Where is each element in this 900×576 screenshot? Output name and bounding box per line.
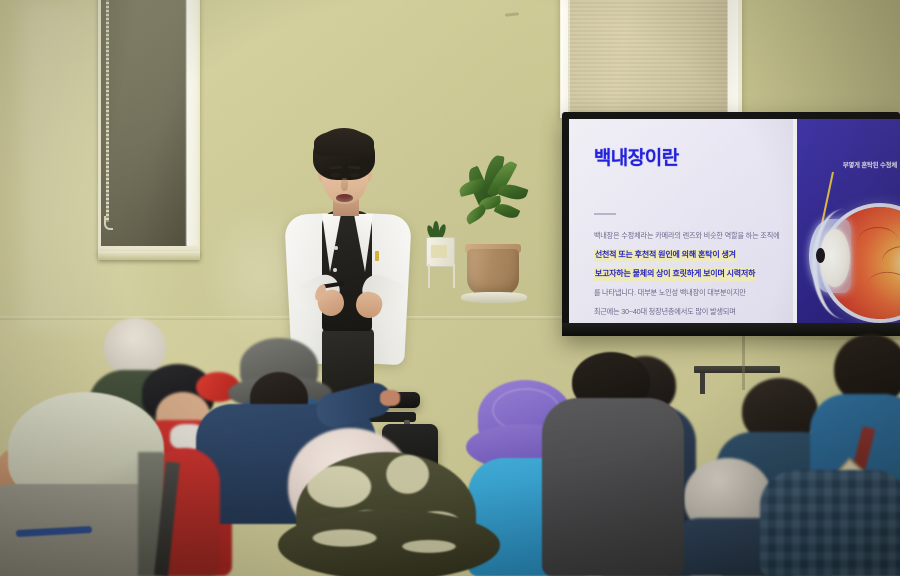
slide-title: 백내장이란 <box>594 143 679 170</box>
lecture-room-photo: 부옇게 혼탁된 수정체 백내장이란 백내장은 수정체라는 카메라의 렌즈와 비슷… <box>0 0 900 576</box>
hand <box>380 390 400 406</box>
eye <box>349 173 360 177</box>
potted-plant-large <box>455 163 533 303</box>
slide-line-highlighted: 보고자하는 물체의 상이 흐릿하게 보이며 시력저하 <box>594 268 756 281</box>
slide-title-rule <box>594 213 616 215</box>
plant-leaf <box>498 181 529 203</box>
wall-shelf-bracket <box>700 372 705 394</box>
presentation-slide: 부옇게 혼탁된 수정체 백내장이란 백내장은 수정체라는 카메라의 렌즈와 비슷… <box>569 119 900 323</box>
window-glass-edge <box>186 0 198 246</box>
blind-chain-loop-icon <box>104 216 113 230</box>
wall-panel-seam <box>742 330 745 390</box>
window-glass-edge-left <box>561 0 570 114</box>
plant-leaf <box>494 200 521 221</box>
planter-stand <box>428 264 455 288</box>
slide-line: 최근에는 30~40대 청장년층에서도 많이 발생되며 <box>594 307 736 316</box>
window-sill <box>98 251 200 260</box>
diagram-label: 부옇게 혼탁된 수정체 <box>843 160 897 169</box>
mouth <box>336 194 353 202</box>
blind-shading <box>101 0 187 246</box>
plant-saucer <box>461 292 527 303</box>
eye <box>330 173 341 177</box>
eye-diagram-pupil <box>816 248 825 263</box>
audience-torso <box>542 398 684 576</box>
window-blind-left <box>98 0 200 254</box>
coat-button <box>334 246 338 250</box>
slide-body-text: 백내장은 수정체라는 카메라의 렌즈와 비슷한 역할을 하는 조직에 선천적 또… <box>594 225 793 323</box>
window-blind-right <box>560 0 742 118</box>
hair-white <box>104 318 166 376</box>
plant-leaf <box>464 204 489 225</box>
nose <box>341 178 348 191</box>
wall-mounted-tv[interactable]: 부옇게 혼탁된 수정체 백내장이란 백내장은 수정체라는 카메라의 렌즈와 비슷… <box>562 112 900 336</box>
presenter-hair-fringe <box>314 130 374 156</box>
pocket-pen-icon <box>375 251 379 261</box>
tv-lower-bezel <box>562 323 900 336</box>
blind-chain-icon <box>106 0 109 222</box>
slide-diagram-panel: 부옇게 혼탁된 수정체 <box>797 119 900 323</box>
camo-bucket-hat-brim <box>278 510 500 576</box>
coat-button <box>333 268 337 272</box>
plaid-shirt-torso <box>760 470 900 576</box>
planter-label <box>431 245 447 258</box>
slide-line: 를 나타냅니다. 대부분 노인성 백내장이 대부분이지만 <box>594 288 746 297</box>
window-glass-edge-right <box>727 0 738 114</box>
wall-shelf <box>694 366 780 373</box>
roller-blind-fabric-right <box>568 0 728 114</box>
slide-line-highlighted: 선천적 또는 후천적 원인에 의해 혼탁이 생겨 <box>594 249 737 262</box>
plant-pot <box>467 249 519 295</box>
slide-line: 백내장은 수정체라는 카메라의 렌즈와 비슷한 역할을 하는 조직에 <box>594 231 780 240</box>
